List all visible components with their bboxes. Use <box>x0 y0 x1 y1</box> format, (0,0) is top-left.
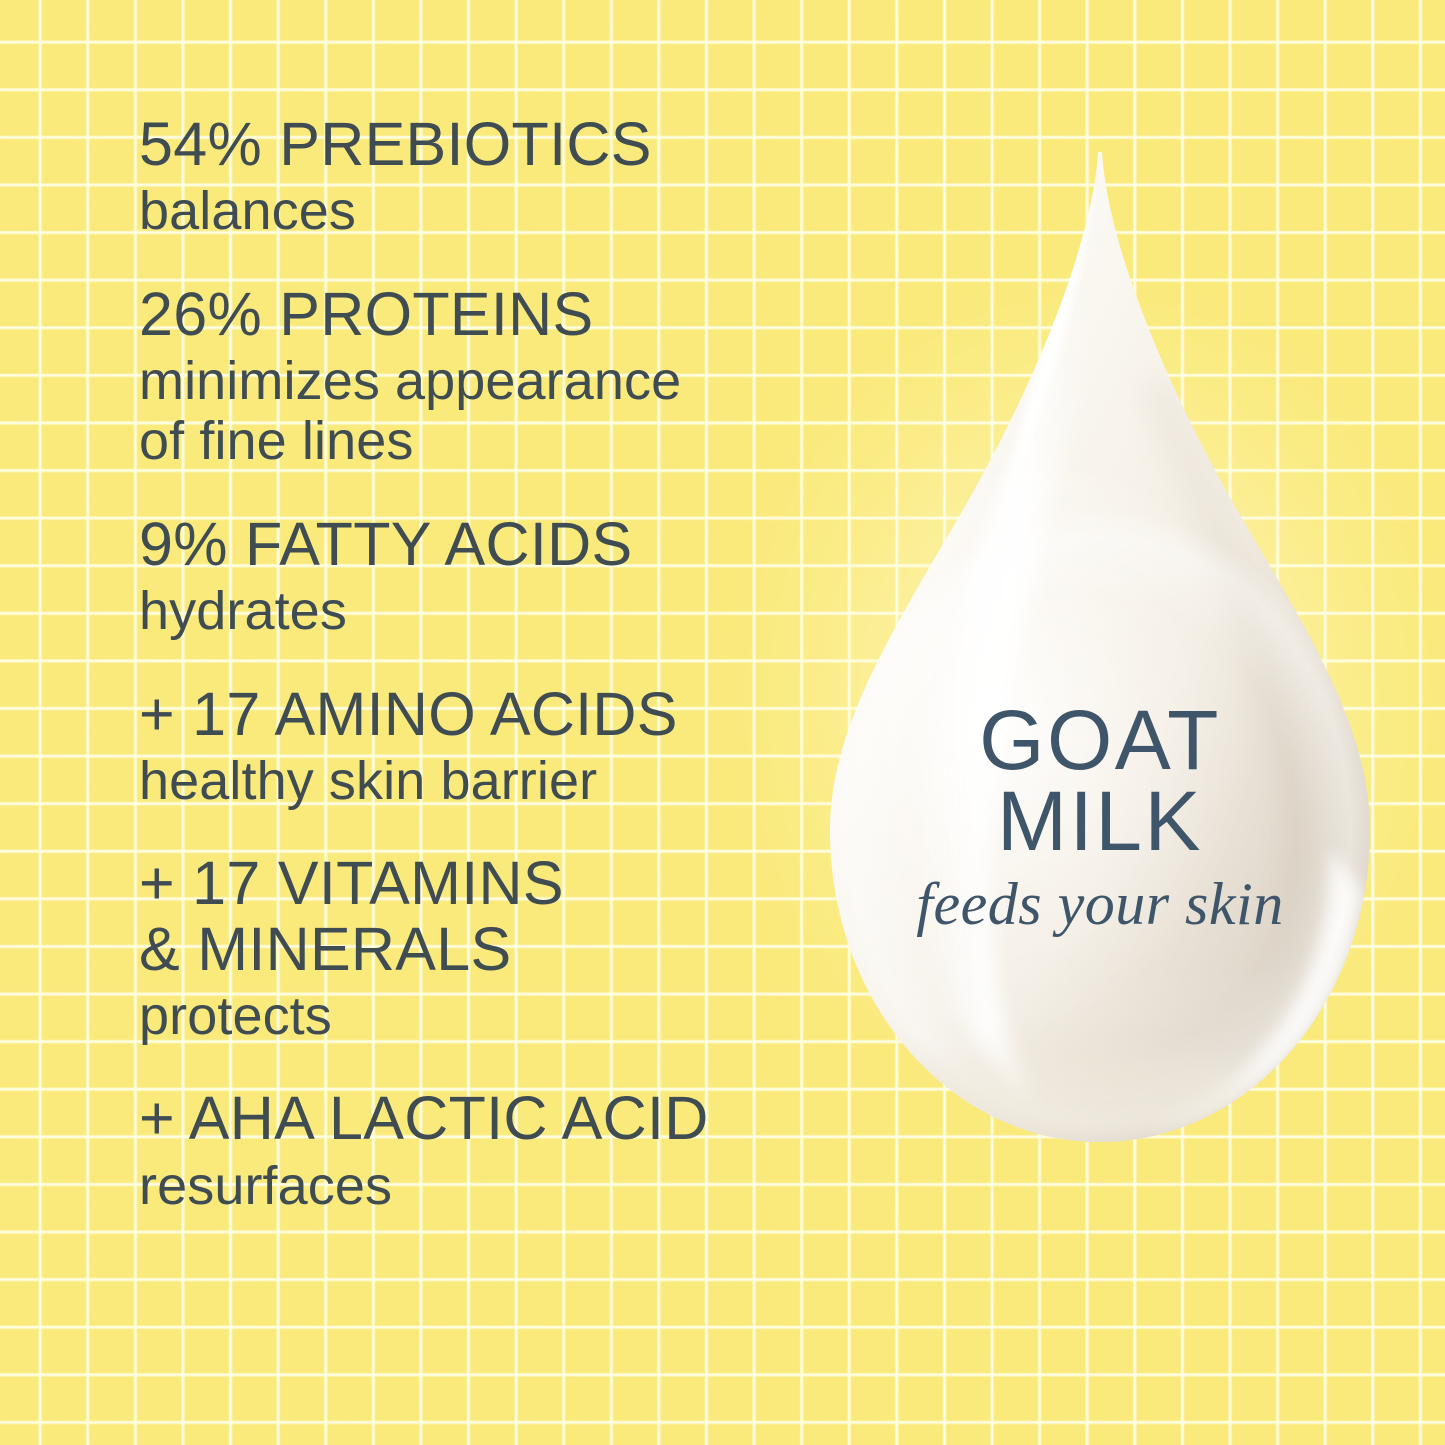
milk-droplet-icon <box>770 130 1430 1180</box>
benefits-list: 54% PREBIOTICS balances 26% PROTEINS min… <box>139 112 839 1216</box>
benefit-item-fatty-acids: 9% FATTY ACIDS hydrates <box>139 512 839 642</box>
benefit-item-prebiotics: 54% PREBIOTICS balances <box>139 112 839 242</box>
benefit-headline: + 17 AMINO ACIDS <box>139 682 839 747</box>
benefit-subtext: healthy skin barrier <box>139 751 839 811</box>
benefit-subtext: minimizes appearance of fine lines <box>139 351 839 472</box>
benefit-headline: 9% FATTY ACIDS <box>139 512 839 577</box>
benefit-headline: 26% PROTEINS <box>139 282 839 347</box>
benefit-headline: + 17 VITAMINS & MINERALS <box>139 851 839 982</box>
infographic-canvas: 54% PREBIOTICS balances 26% PROTEINS min… <box>0 0 1445 1445</box>
benefit-subtext: protects <box>139 986 839 1046</box>
benefit-item-aha-lactic-acid: + AHA LACTIC ACID resurfaces <box>139 1086 839 1216</box>
benefit-item-vitamins-minerals: + 17 VITAMINS & MINERALS protects <box>139 851 839 1046</box>
benefit-item-amino-acids: + 17 AMINO ACIDS healthy skin barrier <box>139 682 839 812</box>
droplet-bottom-reflection <box>880 1049 1260 1141</box>
milk-droplet-illustration <box>770 130 1430 1180</box>
benefit-subtext: resurfaces <box>139 1156 839 1216</box>
benefit-headline: + AHA LACTIC ACID <box>139 1086 839 1151</box>
benefit-item-proteins: 26% PROTEINS minimizes appearance of fin… <box>139 282 839 472</box>
benefit-headline: 54% PREBIOTICS <box>139 112 839 177</box>
benefit-subtext: balances <box>139 181 839 241</box>
benefit-subtext: hydrates <box>139 581 839 641</box>
